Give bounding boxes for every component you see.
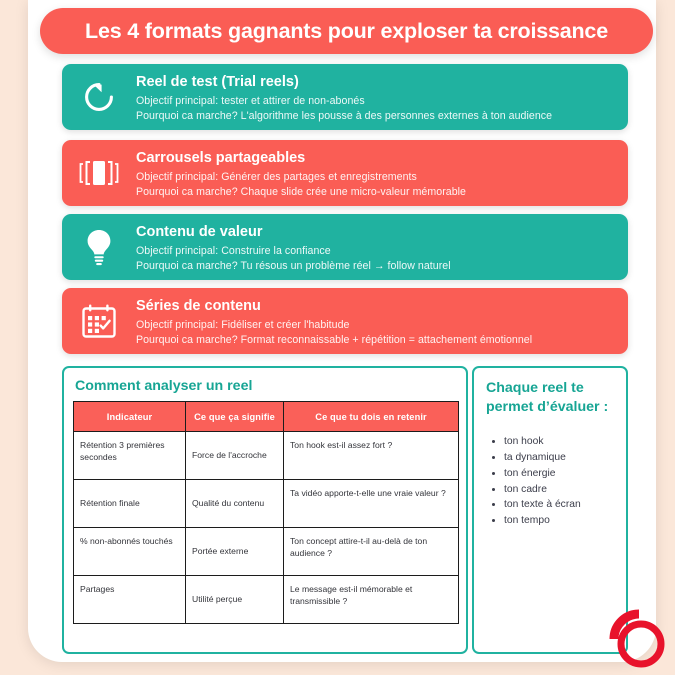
table-row: Rétention 3 premières secondes Force de … [74, 432, 459, 480]
analysis-table-heading: Comment analyser un reel [75, 378, 457, 394]
list-item: ta dynamique [504, 450, 616, 465]
evaluation-panel-heading: Chaque reel te permet d’évaluer : [486, 379, 616, 417]
list-item: ton cadre [504, 482, 616, 497]
format-card-carrousels[interactable]: Carrousels partageables Objectif princip… [62, 140, 628, 206]
table-cell-retenir: Ton hook est-il assez fort ? [284, 432, 459, 480]
table-row: Rétention finale Qualité du contenu Ta v… [74, 480, 459, 528]
table-cell-signification: Portée externe [186, 528, 284, 576]
format-card-body: Séries de contenu Objectif principal: Fi… [136, 295, 544, 347]
format-card-objective: Objectif principal: Générer des partages… [136, 170, 466, 184]
format-card-reason: Pourquoi ca marche? L'algorithme les pou… [136, 109, 552, 123]
analysis-table: Indicateur Ce que ça signifie Ce que tu … [73, 401, 459, 624]
list-item: ton texte à écran [504, 497, 616, 512]
carousel-icon [62, 158, 136, 188]
format-card-objective: Objectif principal: tester et attirer de… [136, 94, 552, 108]
format-card-body: Reel de test (Trial reels) Objectif prin… [136, 71, 564, 123]
table-row: Partages Utilité perçue Le message est-i… [74, 576, 459, 624]
table-cell-indicateur: Rétention 3 premières secondes [74, 432, 186, 480]
table-row: % non-abonnés touchés Portée externe Ton… [74, 528, 459, 576]
table-cell-indicateur: Partages [74, 576, 186, 624]
format-card-reason: Pourquoi ca marche? Tu résous un problèm… [136, 259, 451, 273]
format-card-reason: Pourquoi ca marche? Chaque slide crée un… [136, 185, 466, 199]
page-title: Les 4 formats gagnants pour exploser ta … [85, 19, 608, 44]
format-card-series-de-contenu[interactable]: Séries de contenu Objectif principal: Fi… [62, 288, 628, 354]
table-cell-signification: Force de l'accroche [186, 432, 284, 480]
format-card-reel-de-test[interactable]: Reel de test (Trial reels) Objectif prin… [62, 64, 628, 130]
table-cell-signification: Qualité du contenu [186, 480, 284, 528]
refresh-circle-icon [62, 80, 136, 114]
calendar-check-icon [62, 302, 136, 340]
table-cell-retenir: Ton concept attire-t-il au-delà de ton a… [284, 528, 459, 576]
format-card-contenu-de-valeur[interactable]: Contenu de valeur Objectif principal: Co… [62, 214, 628, 280]
table-cell-retenir: Ta vidéo apporte-t-elle une vraie valeur… [284, 480, 459, 528]
lightbulb-icon [62, 228, 136, 266]
table-cell-indicateur: Rétention finale [74, 480, 186, 528]
table-cell-retenir: Le message est-il mémorable et transmiss… [284, 576, 459, 624]
format-card-body: Contenu de valeur Objectif principal: Co… [136, 221, 463, 273]
page-title-banner: Les 4 formats gagnants pour exploser ta … [40, 8, 653, 54]
table-column-header-retenir: Ce que tu dois en retenir [284, 402, 459, 432]
list-item: ton tempo [504, 513, 616, 528]
format-card-objective: Objectif principal: Fidéliser et créer l… [136, 318, 532, 332]
table-column-header-indicateur: Indicateur [74, 402, 186, 432]
table-cell-indicateur: % non-abonnés touchés [74, 528, 186, 576]
format-card-title: Carrousels partageables [136, 149, 466, 167]
format-card-title: Contenu de valeur [136, 223, 451, 241]
format-card-title: Séries de contenu [136, 297, 532, 315]
brand-logo-icon [605, 607, 669, 671]
evaluation-list: ton hook ta dynamique ton énergie ton ca… [486, 434, 616, 528]
list-item: ton hook [504, 434, 616, 449]
format-card-objective: Objectif principal: Construire la confia… [136, 244, 451, 258]
format-card-reason: Pourquoi ca marche? Format reconnaissabl… [136, 333, 532, 347]
table-header-row: Indicateur Ce que ça signifie Ce que tu … [74, 402, 459, 432]
analysis-table-panel: Comment analyser un reel Indicateur Ce q… [62, 366, 468, 654]
format-card-title: Reel de test (Trial reels) [136, 73, 552, 91]
format-card-body: Carrousels partageables Objectif princip… [136, 147, 478, 199]
table-column-header-signification: Ce que ça signifie [186, 402, 284, 432]
table-cell-signification: Utilité perçue [186, 576, 284, 624]
list-item: ton énergie [504, 466, 616, 481]
